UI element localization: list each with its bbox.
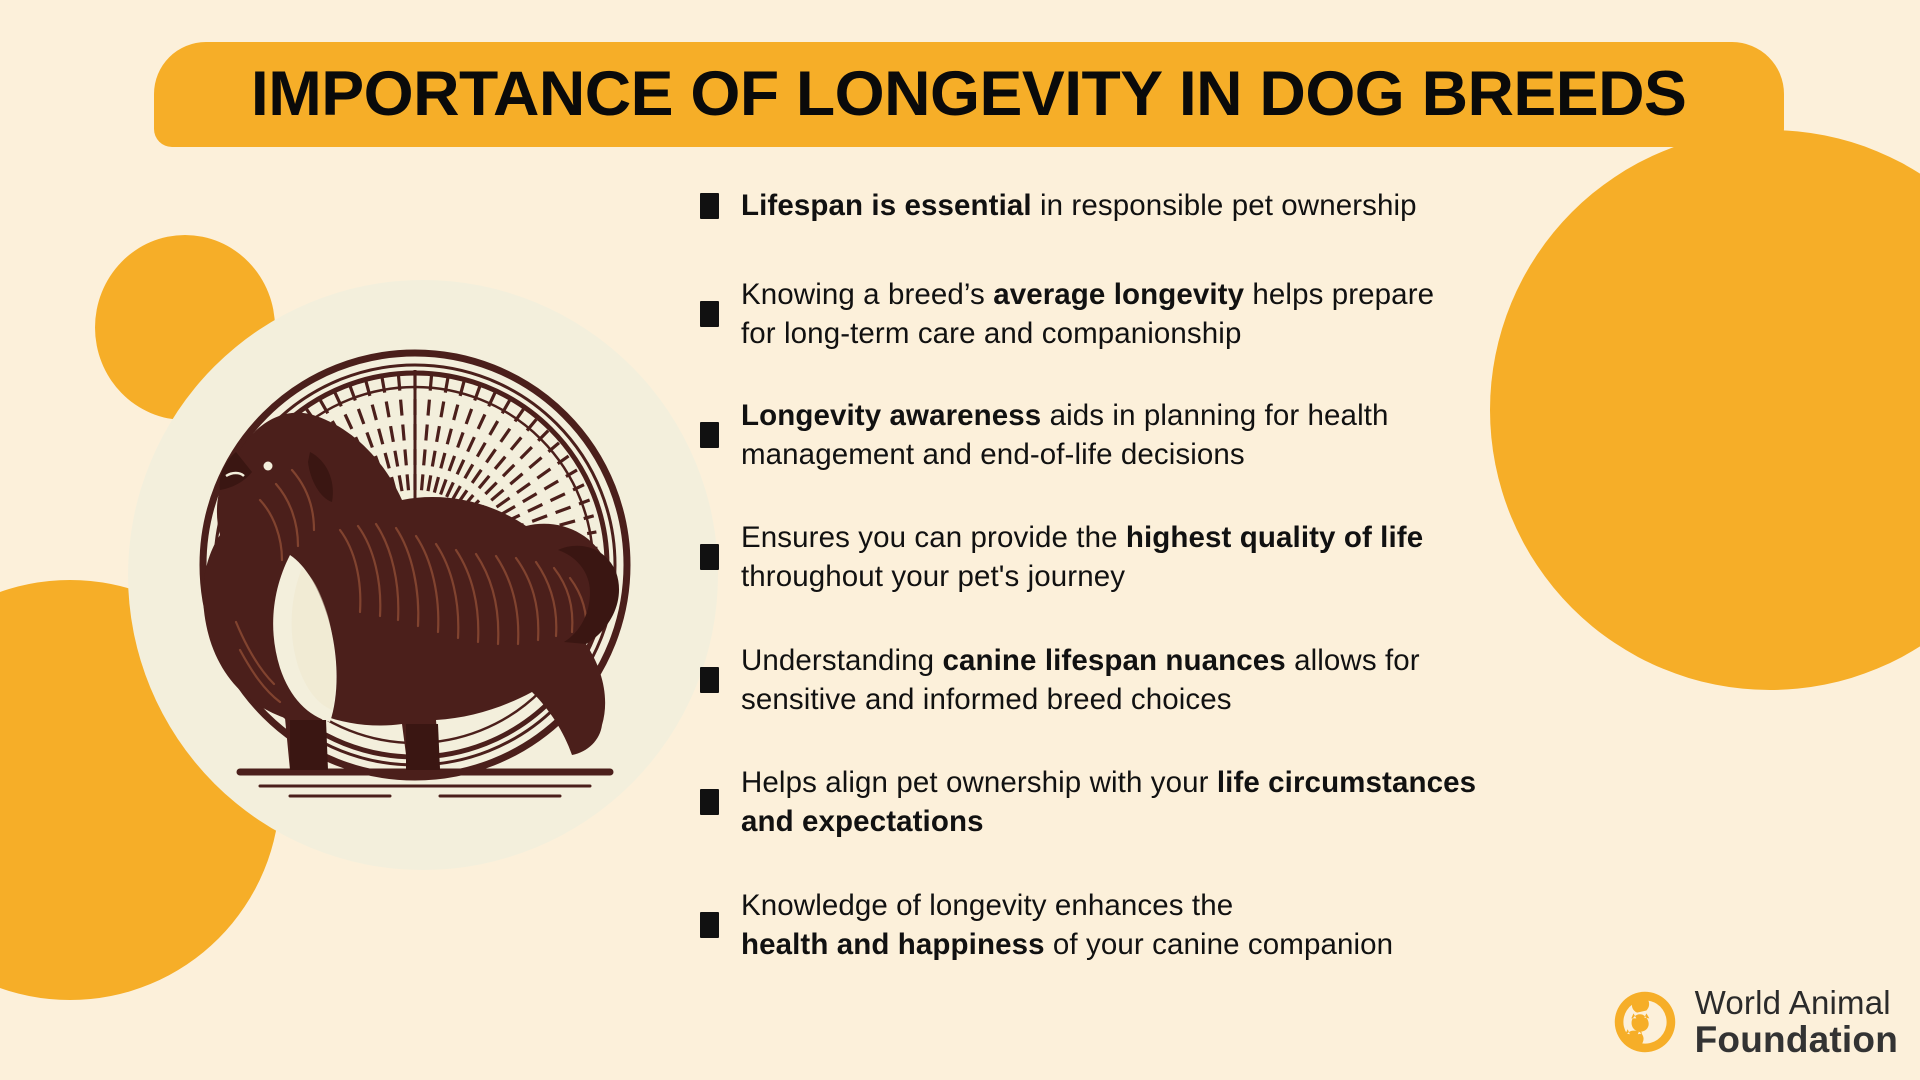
logo-mark-icon [1609, 986, 1681, 1058]
logo-line-2: Foundation [1695, 1021, 1898, 1058]
bullet-text-3: Longevity awareness aids in planning for… [741, 396, 1389, 474]
bullet-list: Lifespan is essential in responsible pet… [700, 186, 1700, 964]
bullet-text-6: Helps align pet ownership with your life… [741, 763, 1476, 841]
title-banner: IMPORTANCE OF LONGEVITY IN DOG BREEDS [154, 42, 1784, 147]
square-bullet-icon [700, 544, 719, 570]
square-bullet-icon [700, 422, 719, 448]
list-item: Ensures you can provide the highest qual… [700, 518, 1700, 596]
bullet-text-7: Knowledge of longevity enhances thehealt… [741, 886, 1393, 964]
dog-illustration [140, 300, 710, 860]
square-bullet-icon [700, 301, 719, 327]
square-bullet-icon [700, 789, 719, 815]
square-bullet-icon [700, 193, 719, 219]
bullet-text-2: Knowing a breed’s average longevity help… [741, 275, 1434, 353]
bullet-text-5: Understanding canine lifespan nuances al… [741, 641, 1420, 719]
list-item: Lifespan is essential in responsible pet… [700, 186, 1700, 225]
square-bullet-icon [700, 667, 719, 693]
world-animal-foundation-logo: World Animal Foundation [1609, 986, 1898, 1058]
bullet-text-1: Lifespan is essential in responsible pet… [741, 186, 1417, 225]
list-item: Understanding canine lifespan nuances al… [700, 641, 1700, 719]
logo-wordmark: World Animal Foundation [1695, 986, 1898, 1058]
square-bullet-icon [700, 912, 719, 938]
page-title: IMPORTANCE OF LONGEVITY IN DOG BREEDS [251, 63, 1686, 126]
list-item: Longevity awareness aids in planning for… [700, 396, 1700, 474]
infographic-canvas: IMPORTANCE OF LONGEVITY IN DOG BREEDS [0, 0, 1920, 1080]
logo-line-1: World Animal [1695, 986, 1898, 1019]
list-item: Knowing a breed’s average longevity help… [700, 275, 1700, 353]
list-item: Knowledge of longevity enhances thehealt… [700, 886, 1700, 964]
bullet-text-4: Ensures you can provide the highest qual… [741, 518, 1423, 596]
list-item: Helps align pet ownership with your life… [700, 763, 1700, 841]
